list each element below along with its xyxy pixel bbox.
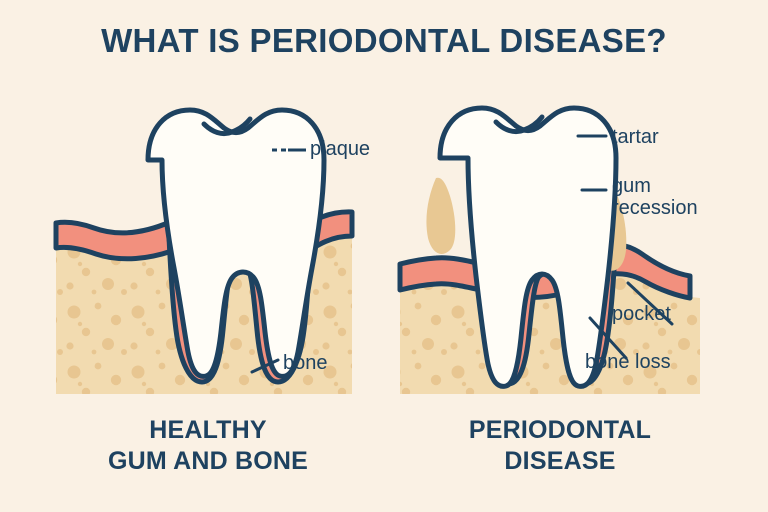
label-plaque: plaque — [310, 138, 370, 160]
caption-healthy-line1: HEALTHY — [149, 416, 267, 444]
label-bone: bone — [283, 352, 328, 374]
infographic-canvas: WHAT IS PERIODONTAL DISEASE? plaque bone… — [0, 0, 768, 512]
caption-healthy: HEALTHY GUM AND BONE — [48, 415, 368, 476]
caption-diseased-line2: DISEASE — [400, 446, 720, 477]
label-pocket: pocket — [612, 303, 671, 325]
caption-diseased-line1: PERIODONTAL — [469, 416, 651, 444]
page-title: WHAT IS PERIODONTAL DISEASE? — [0, 22, 768, 60]
label-gum-recession: gum recession — [612, 175, 698, 220]
label-bone-loss: bone loss — [585, 351, 671, 373]
caption-diseased: PERIODONTAL DISEASE — [400, 415, 720, 476]
caption-healthy-line2: GUM AND BONE — [48, 446, 368, 477]
label-tartar: tartar — [612, 126, 659, 148]
